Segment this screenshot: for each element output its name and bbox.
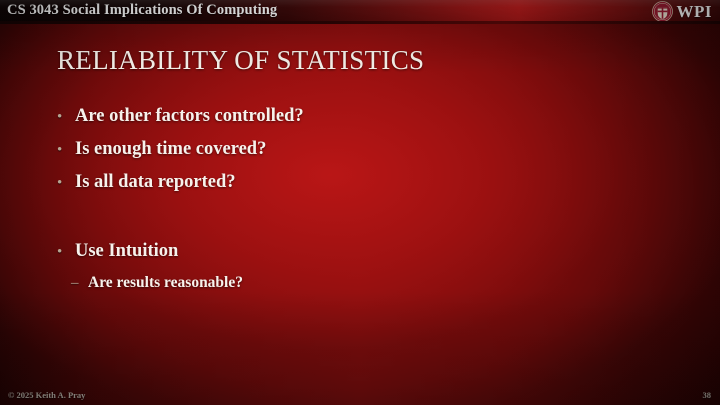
bullet-item: • Are other factors controlled? (57, 106, 657, 127)
presentation-slide: CS 3043 Social Implications Of Computing… (0, 0, 720, 405)
bullet-text: Is enough time covered? (75, 139, 266, 160)
bullet-text: Use Intuition (75, 241, 178, 262)
wpi-wordmark: WPI (677, 1, 713, 22)
bullet-item: • Is all data reported? (57, 172, 657, 193)
bullet-dot-icon: • (57, 175, 75, 192)
wpi-logo: WPI (652, 1, 713, 22)
bullet-dot-icon: • (57, 109, 75, 126)
slide-title: RELIABILITY OF STATISTICS (57, 45, 424, 76)
bullet-text: Is all data reported? (75, 172, 236, 193)
bullet-dot-icon: • (57, 244, 75, 261)
bullet-item: • Use Intuition (57, 241, 657, 262)
sub-bullet-text: Are results reasonable? (88, 274, 243, 292)
bullet-dot-icon: • (57, 142, 75, 159)
sub-bullet-item: – Are results reasonable? (57, 274, 657, 292)
wpi-seal-icon (652, 1, 673, 22)
slide-body: • Are other factors controlled? • Is eno… (57, 106, 657, 297)
copyright-notice: © 2025 Keith A. Pray (8, 390, 85, 400)
bullet-item: • Is enough time covered? (57, 139, 657, 160)
bullet-spacer (57, 205, 657, 241)
slide-header-bar: CS 3043 Social Implications Of Computing… (0, 0, 720, 24)
bullet-text: Are other factors controlled? (75, 106, 304, 127)
page-number: 38 (703, 390, 712, 400)
course-title: CS 3043 Social Implications Of Computing (7, 2, 277, 19)
bullet-dash-icon: – (71, 275, 88, 292)
